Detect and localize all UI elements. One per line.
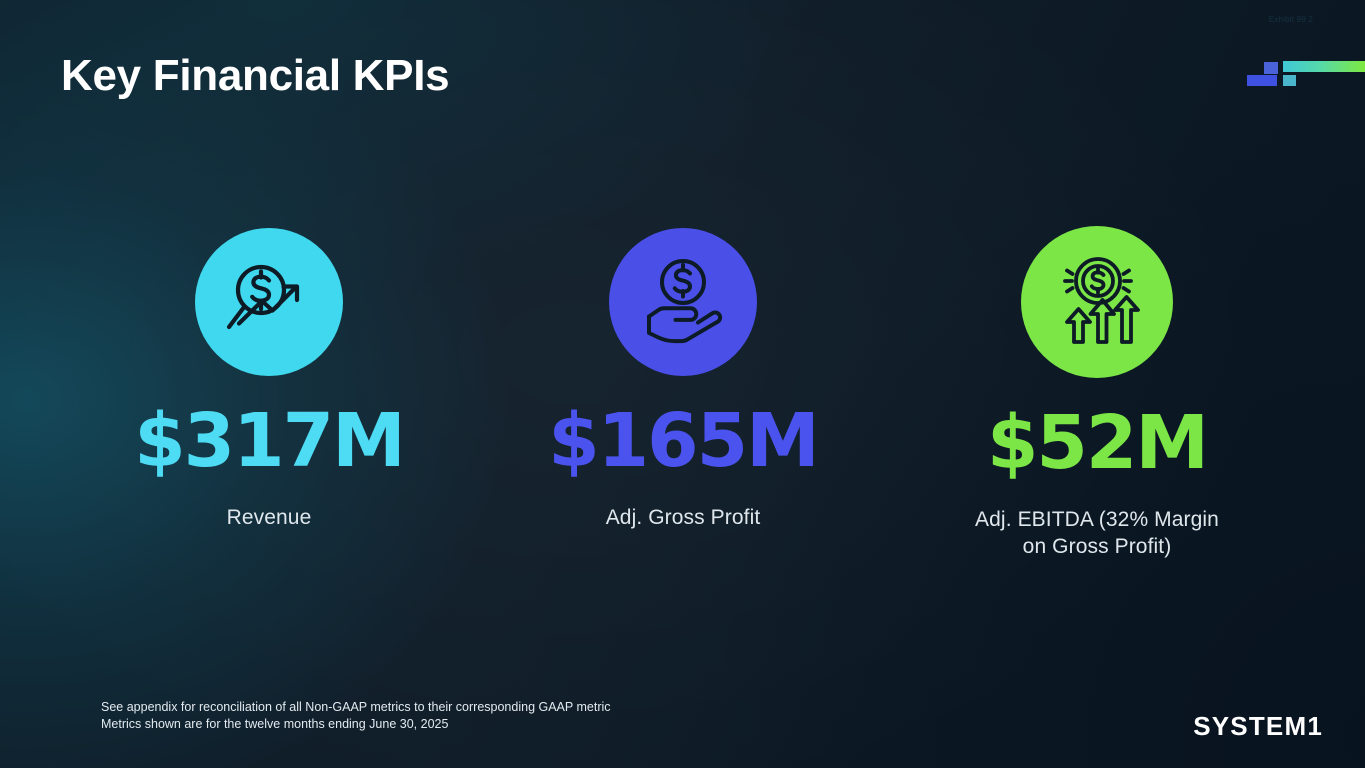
kpi-value: $165M [548, 404, 818, 478]
footnotes: See appendix for reconciliation of all N… [101, 699, 611, 732]
slide-canvas: Exhibit 99.2 Key Financial KPIs $317M [0, 0, 1365, 768]
kpi-value: $52M [987, 406, 1207, 480]
deco-pixel-1 [1247, 75, 1277, 86]
footnote-line-2: Metrics shown are for the twelve months … [101, 716, 611, 733]
exhibit-tag: Exhibit 99.2 [1269, 15, 1313, 24]
kpi-row: $317M Revenue $165M Adj. Gross Profit [62, 228, 1304, 561]
system1-logo: SYSTEM1 [1193, 711, 1323, 742]
kpi-label: Revenue [227, 504, 312, 531]
magnifier-dollar-growth-icon [195, 228, 343, 376]
kpi-label: Adj. EBITDA (32% Margin on Gross Profit) [975, 506, 1219, 561]
dollar-coin-rising-arrows-icon [1021, 226, 1173, 378]
kpi-label-line1: Revenue [227, 506, 312, 529]
deco-gradient-bar [1283, 61, 1365, 72]
page-title: Key Financial KPIs [61, 52, 449, 100]
kpi-label-line1: Adj. Gross Profit [606, 506, 761, 529]
kpi-card-adj-gross-profit: $165M Adj. Gross Profit [476, 228, 890, 531]
deco-pixel-3 [1283, 75, 1296, 86]
kpi-card-revenue: $317M Revenue [62, 228, 476, 531]
kpi-card-adj-ebitda: $52M Adj. EBITDA (32% Margin on Gross Pr… [890, 226, 1304, 561]
deco-pixel-2 [1264, 62, 1278, 74]
footnote-line-1: See appendix for reconciliation of all N… [101, 699, 611, 716]
hand-holding-dollar-coin-icon [609, 228, 757, 376]
kpi-label-line2: on Gross Profit) [1023, 535, 1172, 558]
kpi-label: Adj. Gross Profit [606, 504, 761, 531]
kpi-label-line1: Adj. EBITDA (32% Margin [975, 508, 1219, 531]
kpi-value: $317M [134, 404, 404, 478]
pixel-gradient-decoration [1241, 58, 1365, 88]
